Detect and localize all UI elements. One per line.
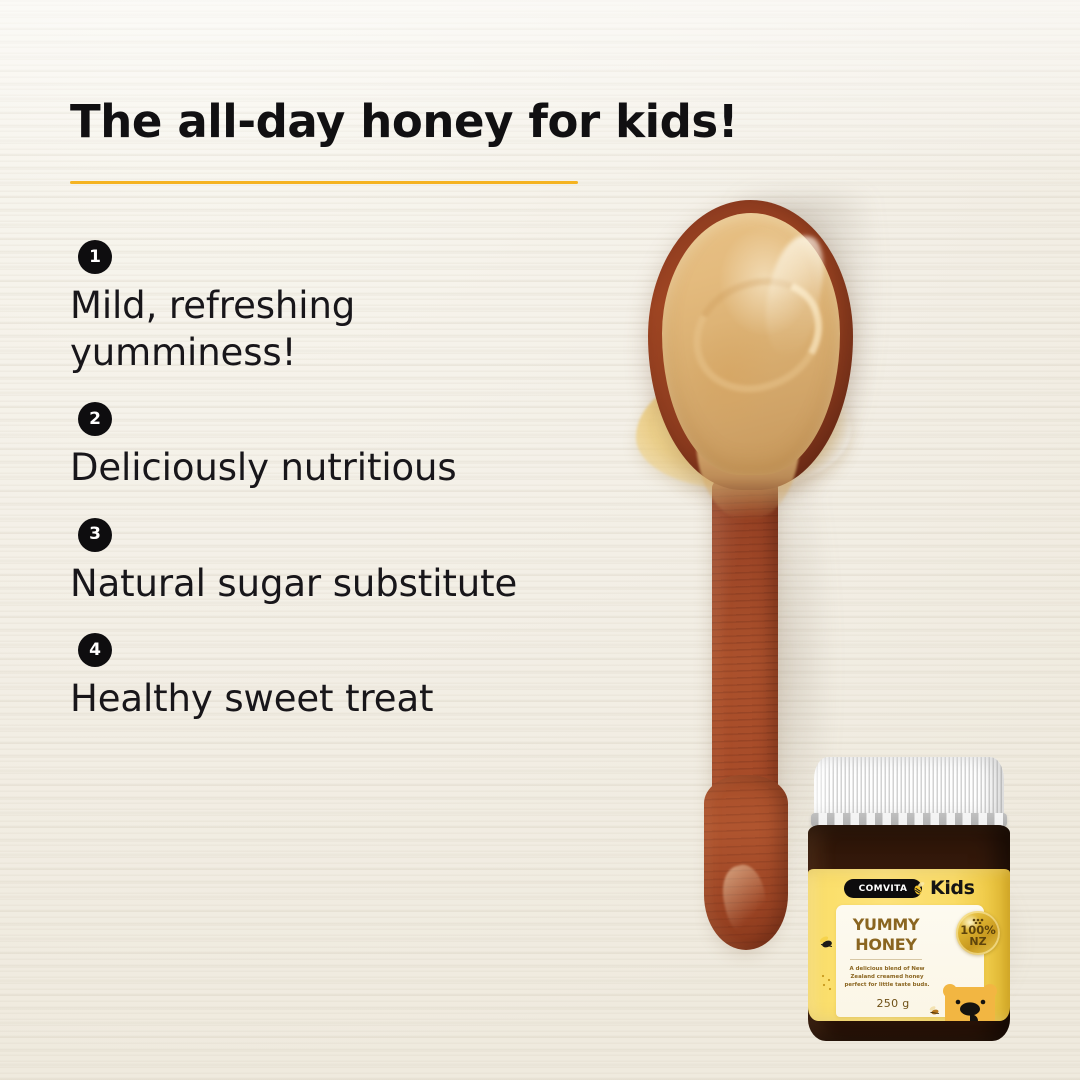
title-divider bbox=[70, 181, 578, 184]
bear-mascot-icon bbox=[940, 979, 1002, 1021]
bee-icon bbox=[818, 935, 838, 951]
benefit-text: Mild, refreshing yumminess! bbox=[70, 283, 690, 376]
sub-brand-name: Kids bbox=[930, 877, 975, 899]
product-name-line2: HONEY bbox=[855, 935, 916, 954]
benefit-list: 1 Mild, refreshing yumminess! 2 Deliciou… bbox=[70, 240, 690, 749]
jar-label: COMVITA Kids bbox=[808, 869, 1010, 1021]
bee-icon bbox=[912, 881, 926, 896]
list-item: 3 Natural sugar substitute bbox=[70, 518, 690, 608]
product-name: YUMMY HONEY bbox=[836, 915, 936, 954]
product-description: A delicious blend of New Zealand creamed… bbox=[844, 965, 930, 989]
brand-bar: COMVITA Kids bbox=[808, 873, 1010, 903]
benefit-number-badge: 4 bbox=[78, 633, 112, 667]
label-divider bbox=[850, 959, 922, 960]
product-jar-image: COMVITA Kids bbox=[800, 755, 1018, 1045]
promo-canvas: The all-day honey for kids! 1 Mild, refr… bbox=[0, 0, 1080, 1080]
page-title: The all-day honey for kids! bbox=[70, 95, 830, 148]
brand-name: COMVITA bbox=[859, 884, 908, 894]
dots-decoration bbox=[820, 973, 834, 993]
list-item: 1 Mild, refreshing yumminess! bbox=[70, 240, 690, 376]
product-name-line1: YUMMY bbox=[853, 915, 920, 934]
seal-bottom-text: NZ bbox=[969, 936, 986, 948]
list-item: 2 Deliciously nutritious bbox=[70, 402, 690, 492]
100-percent-nz-seal: 100% NZ bbox=[956, 911, 1000, 955]
list-item: 4 Healthy sweet treat bbox=[70, 633, 690, 723]
benefit-text: Natural sugar substitute bbox=[70, 561, 690, 608]
comvita-logo: COMVITA bbox=[844, 879, 922, 898]
benefit-text: Healthy sweet treat bbox=[70, 676, 690, 723]
benefit-number-badge: 3 bbox=[78, 518, 112, 552]
benefit-number-badge: 1 bbox=[78, 240, 112, 274]
benefit-number-badge: 2 bbox=[78, 402, 112, 436]
jar-lid bbox=[814, 757, 1004, 819]
benefit-text: Deliciously nutritious bbox=[70, 445, 690, 492]
